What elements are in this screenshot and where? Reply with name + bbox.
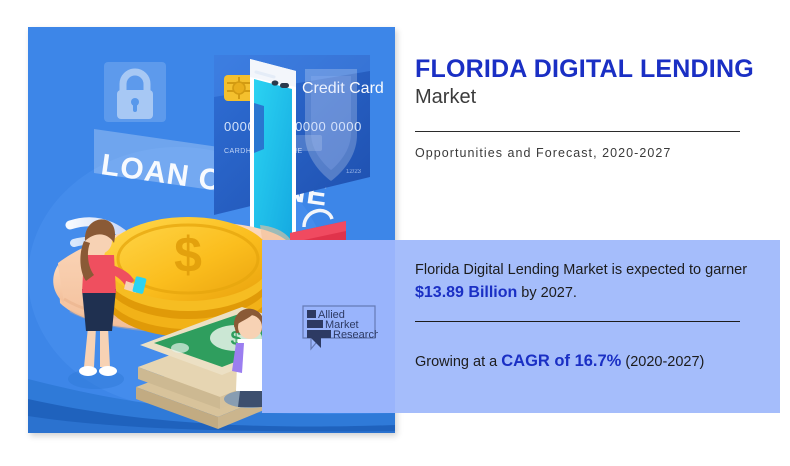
page-subtitle: Opportunities and Forecast, 2020-2027: [415, 146, 671, 160]
padlock-icon: [104, 62, 166, 122]
cagr-statement: Growing at a CAGR of 16.7% (2020-2027): [415, 349, 760, 374]
cagr-suffix: (2020-2027): [621, 354, 704, 370]
cagr-prefix: Growing at a: [415, 354, 501, 370]
logo-line-3: Research: [333, 329, 378, 341]
svg-text:$: $: [174, 227, 202, 283]
allied-market-research-logo: Allied Market Research: [300, 303, 378, 353]
cagr-figure: CAGR of 16.7%: [501, 352, 621, 370]
title-secondary: Market: [415, 84, 775, 111]
market-value-figure: $13.89 Billion: [415, 284, 517, 301]
svg-text:12/23: 12/23: [346, 169, 362, 175]
header-divider: [415, 131, 740, 132]
stats-divider: [415, 321, 740, 322]
market-value-statement: Florida Digital Lending Market is expect…: [415, 259, 755, 305]
title-primary: FLORIDA DIGITAL LENDING: [415, 56, 775, 83]
infographic-card: LOAN ON-LINE Credit Card 0000 0000 0000 …: [0, 0, 790, 466]
market-value-suffix: by 2027.: [517, 285, 577, 301]
market-value-prefix: Florida Digital Lending Market is expect…: [415, 262, 747, 278]
page-title: FLORIDA DIGITAL LENDING Market: [415, 56, 775, 111]
